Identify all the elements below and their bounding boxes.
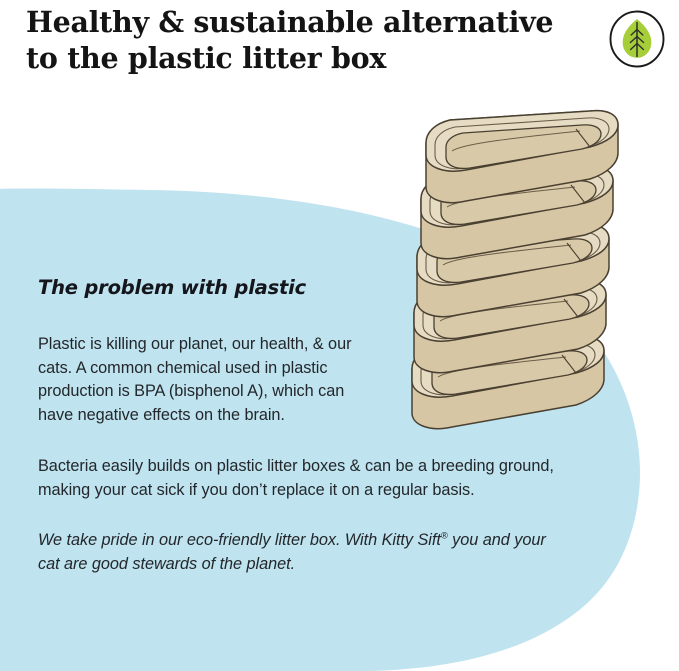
headline-line-1: Healthy & sustainable alternative xyxy=(26,4,571,40)
content-block: The problem with plastic Plastic is kill… xyxy=(38,276,598,577)
infographic-canvas: Healthy & sustainable alternative to the… xyxy=(0,0,679,671)
paragraph-brand-statement: We take pride in our eco-friendly litter… xyxy=(38,529,558,576)
header: Healthy & sustainable alternative to the… xyxy=(0,0,679,100)
headline-line-2: to the plastic litter box xyxy=(26,40,571,76)
section-heading: The problem with plastic xyxy=(38,276,598,299)
registered-trademark-icon: ® xyxy=(441,531,448,542)
paragraph-plastic-harm: Plastic is killing our planet, our healt… xyxy=(38,333,383,428)
page-title: Healthy & sustainable alternative to the… xyxy=(26,4,571,77)
leaf-icon xyxy=(608,10,666,68)
brand-statement-lead: We take pride in our eco-friendly litter… xyxy=(38,531,441,549)
paragraph-bacteria: Bacteria easily builds on plastic litter… xyxy=(38,455,578,502)
